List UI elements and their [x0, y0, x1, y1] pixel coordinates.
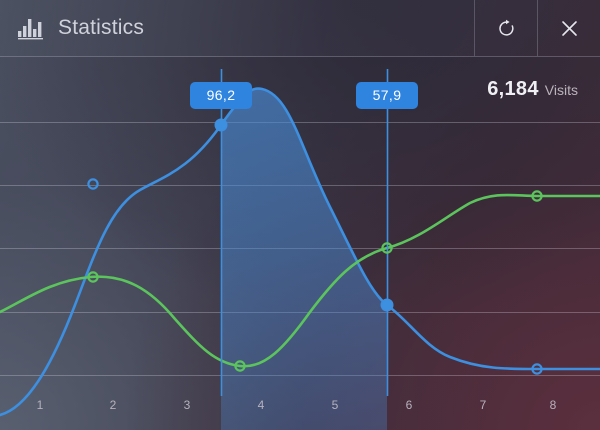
visits-count: 6,184 [487, 78, 539, 101]
visits-summary: 6,184 Visits [487, 78, 578, 101]
chart-canvas[interactable] [0, 57, 600, 430]
refresh-icon [497, 19, 516, 38]
marker-blue-filled-2 [381, 299, 393, 311]
x-tick-3: 3 [184, 398, 191, 412]
x-tick-2: 2 [110, 398, 117, 412]
x-tick-8: 8 [550, 398, 557, 412]
x-tick-1: 1 [37, 398, 44, 412]
refresh-button[interactable] [474, 0, 537, 56]
cursor-left-badge[interactable]: 96,2 [190, 82, 252, 109]
x-tick-7: 7 [480, 398, 487, 412]
x-tick-4: 4 [258, 398, 265, 412]
header-title-group: Statistics [0, 0, 474, 56]
visits-label: Visits [545, 82, 578, 98]
x-tick-6: 6 [406, 398, 413, 412]
statistics-widget: Statistics [0, 0, 600, 430]
window-header: Statistics [0, 0, 600, 57]
close-button[interactable] [537, 0, 600, 56]
marker-blue-filled-1 [215, 119, 227, 131]
page-title: Statistics [58, 16, 144, 40]
marker-blue-hollow-1 [88, 179, 97, 188]
x-axis-labels: 1 2 3 4 5 6 7 8 [0, 398, 600, 420]
close-icon [561, 20, 578, 37]
x-tick-5: 5 [332, 398, 339, 412]
cursor-right-badge[interactable]: 57,9 [356, 82, 418, 109]
bar-chart-icon [18, 16, 44, 40]
